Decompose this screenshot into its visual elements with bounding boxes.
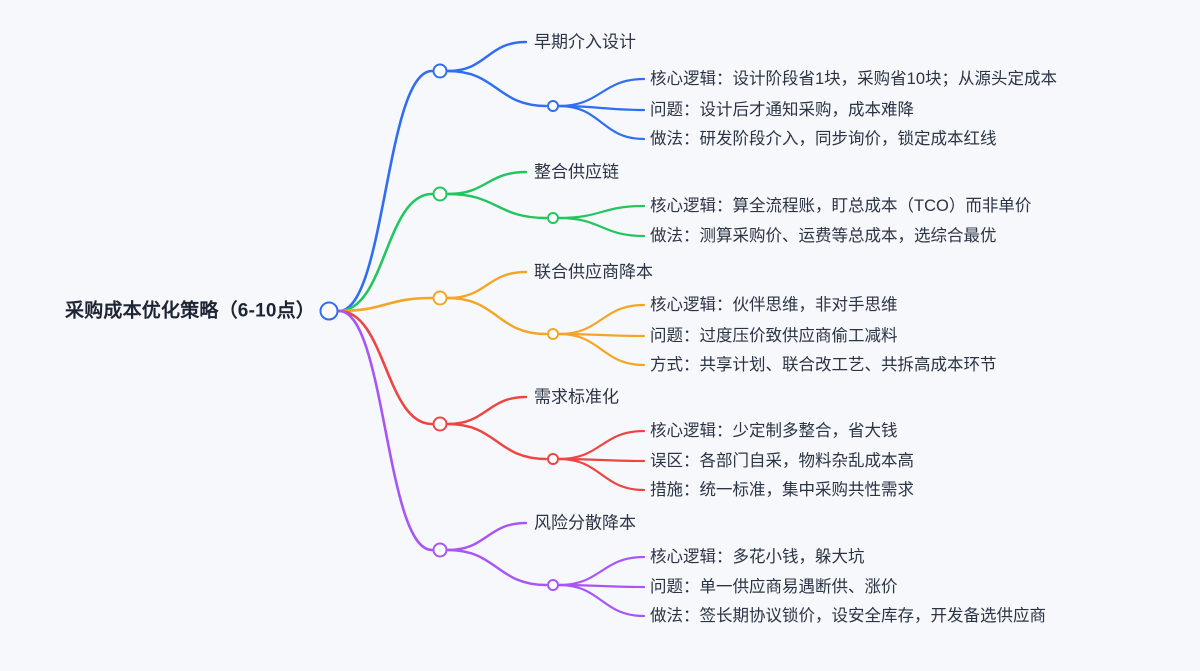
node-sub-branch-demand-standard[interactable] (547, 453, 559, 465)
node-topic-branch-supply-chain[interactable] (433, 187, 448, 202)
edge-root-to-branch-risk-diversify (339, 311, 432, 550)
edge-root-to-branch-demand-standard (339, 311, 432, 424)
edge-sub-to-leaf-branch-joint-supplier-1 (559, 334, 644, 336)
leaf-label-branch-joint-supplier-2: 方式：共享计划、联合改工艺、共拆高成本环节 (650, 357, 997, 374)
edge-sub-to-leaf-branch-demand-standard-1 (559, 459, 644, 461)
node-topic-branch-demand-standard[interactable] (433, 417, 448, 432)
edge-sub-to-leaf-branch-risk-diversify-2 (559, 585, 644, 616)
edge-sub-to-leaf-branch-demand-standard-0 (559, 431, 644, 459)
node-root[interactable] (320, 302, 339, 321)
leaf-label-branch-early-design-0: 核心逻辑：设计阶段省1块，采购省10块；从源头定成本 (650, 71, 1057, 88)
edge-sub-to-leaf-branch-early-design-1 (559, 106, 644, 110)
edge-root-to-branch-early-design (339, 71, 432, 311)
node-sub-branch-joint-supplier[interactable] (547, 328, 559, 340)
mindmap-canvas: 采购成本优化策略（6-10点）早期介入设计核心逻辑：设计阶段省1块，采购省10块… (0, 0, 1200, 671)
leaf-label-branch-risk-diversify-0: 核心逻辑：多花小钱，躲大坑 (650, 549, 865, 566)
leaf-label-branch-risk-diversify-2: 做法：签长期协议锁价，设安全库存，开发备选供应商 (650, 608, 1046, 625)
topic-label-branch-demand-standard: 需求标准化 (534, 389, 619, 406)
node-topic-branch-early-design[interactable] (433, 64, 448, 79)
edge-sub-to-leaf-branch-early-design-2 (559, 106, 644, 139)
edge-topic-to-sub-branch-risk-diversify (448, 550, 546, 585)
node-sub-branch-supply-chain[interactable] (547, 212, 559, 224)
edge-sub-to-leaf-branch-risk-diversify-1 (559, 585, 644, 587)
edge-topic-arm-branch-joint-supplier (448, 272, 526, 298)
leaf-label-branch-demand-standard-0: 核心逻辑：少定制多整合，省大钱 (650, 423, 898, 440)
node-topic-branch-joint-supplier[interactable] (433, 291, 448, 306)
node-sub-branch-early-design[interactable] (547, 100, 559, 112)
edge-sub-to-leaf-branch-joint-supplier-0 (559, 305, 644, 334)
edge-topic-arm-branch-demand-standard (448, 397, 526, 424)
edge-sub-to-leaf-branch-demand-standard-2 (559, 459, 644, 490)
edge-topic-arm-branch-supply-chain (448, 172, 526, 194)
edge-topic-to-sub-branch-early-design (448, 71, 546, 106)
edge-root-to-branch-supply-chain (339, 194, 432, 311)
root-topic-label: 采购成本优化策略（6-10点） (65, 302, 315, 321)
node-sub-branch-risk-diversify[interactable] (547, 579, 559, 591)
topic-label-branch-joint-supplier: 联合供应商降本 (534, 264, 653, 281)
leaf-label-branch-risk-diversify-1: 问题：单一供应商易遇断供、涨价 (650, 579, 898, 596)
leaf-label-branch-supply-chain-0: 核心逻辑：算全流程账，盯总成本（TCO）而非单价 (650, 198, 1031, 215)
edge-topic-to-sub-branch-joint-supplier (448, 298, 546, 334)
edge-topic-arm-branch-early-design (448, 42, 526, 71)
edge-topic-arm-branch-risk-diversify (448, 523, 526, 550)
edge-root-to-branch-joint-supplier (339, 298, 432, 311)
leaf-label-branch-supply-chain-1: 做法：测算采购价、运费等总成本，选综合最优 (650, 228, 997, 245)
edge-topic-to-sub-branch-supply-chain (448, 194, 546, 218)
topic-label-branch-early-design: 早期介入设计 (534, 34, 636, 51)
edge-sub-to-leaf-branch-risk-diversify-0 (559, 557, 644, 585)
topic-label-branch-supply-chain: 整合供应链 (534, 164, 619, 181)
edge-sub-to-leaf-branch-joint-supplier-2 (559, 334, 644, 365)
edge-sub-to-leaf-branch-supply-chain-1 (559, 218, 644, 236)
leaf-label-branch-demand-standard-2: 措施：统一标准，集中采购共性需求 (650, 482, 914, 499)
mindmap-edges (0, 0, 1200, 671)
edge-sub-to-leaf-branch-supply-chain-0 (559, 206, 644, 218)
leaf-label-branch-joint-supplier-0: 核心逻辑：伙伴思维，非对手思维 (650, 297, 898, 314)
leaf-label-branch-early-design-2: 做法：研发阶段介入，同步询价，锁定成本红线 (650, 131, 997, 148)
edge-sub-to-leaf-branch-early-design-0 (559, 79, 644, 106)
leaf-label-branch-joint-supplier-1: 问题：过度压价致供应商偷工减料 (650, 328, 898, 345)
topic-label-branch-risk-diversify: 风险分散降本 (534, 515, 636, 532)
leaf-label-branch-early-design-1: 问题：设计后才通知采购，成本难降 (650, 102, 914, 119)
edge-topic-to-sub-branch-demand-standard (448, 424, 546, 459)
leaf-label-branch-demand-standard-1: 误区：各部门自采，物料杂乱成本高 (650, 453, 914, 470)
node-topic-branch-risk-diversify[interactable] (433, 543, 448, 558)
